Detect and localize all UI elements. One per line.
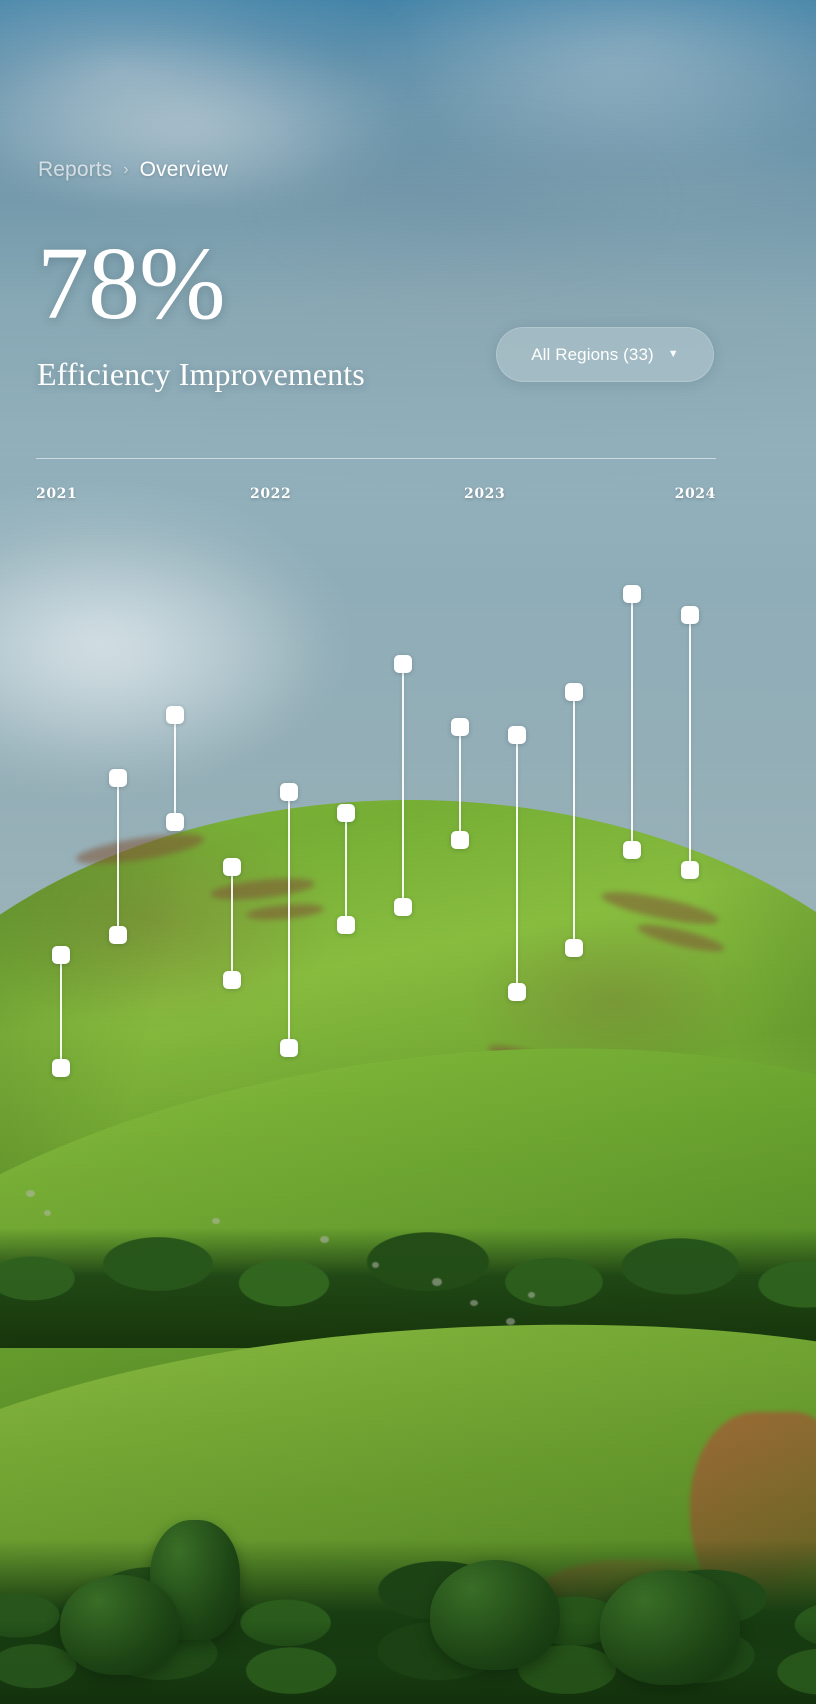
range-bar-stem bbox=[573, 692, 575, 948]
range-bar-bottom-marker[interactable] bbox=[451, 831, 469, 849]
range-bar-top-marker[interactable] bbox=[623, 585, 641, 603]
range-bar-top-marker[interactable] bbox=[394, 655, 412, 673]
range-bar-stem bbox=[689, 615, 691, 870]
range-bar-stem bbox=[288, 792, 290, 1048]
range-bar-stem bbox=[345, 813, 347, 925]
range-bar-bottom-marker[interactable] bbox=[681, 861, 699, 879]
range-bar[interactable] bbox=[402, 664, 404, 907]
range-bar[interactable] bbox=[573, 692, 575, 948]
range-bar-stem bbox=[459, 727, 461, 840]
range-bar[interactable] bbox=[516, 735, 518, 992]
range-bar-top-marker[interactable] bbox=[52, 946, 70, 964]
range-bar-stem bbox=[174, 715, 176, 822]
range-bar[interactable] bbox=[174, 715, 176, 822]
range-bar[interactable] bbox=[689, 615, 691, 870]
range-bar[interactable] bbox=[117, 778, 119, 935]
range-bar[interactable] bbox=[459, 727, 461, 840]
range-bar-bottom-marker[interactable] bbox=[223, 971, 241, 989]
range-bar-bottom-marker[interactable] bbox=[337, 916, 355, 934]
range-bar-stem bbox=[516, 735, 518, 992]
range-bar-top-marker[interactable] bbox=[565, 683, 583, 701]
ui-overlay: Reports › Overview 78% Efficiency Improv… bbox=[0, 0, 816, 1704]
range-bar-bottom-marker[interactable] bbox=[394, 898, 412, 916]
range-bar-top-marker[interactable] bbox=[166, 706, 184, 724]
range-bar-top-marker[interactable] bbox=[681, 606, 699, 624]
range-bar-top-marker[interactable] bbox=[109, 769, 127, 787]
range-bar-stem bbox=[60, 955, 62, 1068]
range-bar[interactable] bbox=[60, 955, 62, 1068]
range-bar-bottom-marker[interactable] bbox=[52, 1059, 70, 1077]
screen: Reports › Overview 78% Efficiency Improv… bbox=[0, 0, 816, 1704]
range-bar-top-marker[interactable] bbox=[451, 718, 469, 736]
range-bar-bottom-marker[interactable] bbox=[166, 813, 184, 831]
range-bar[interactable] bbox=[345, 813, 347, 925]
range-bar[interactable] bbox=[231, 867, 233, 980]
range-bar[interactable] bbox=[631, 594, 633, 850]
range-bar-stem bbox=[631, 594, 633, 850]
range-bar-chart bbox=[0, 0, 816, 1704]
range-bar-top-marker[interactable] bbox=[337, 804, 355, 822]
range-bar-bottom-marker[interactable] bbox=[565, 939, 583, 957]
range-bar-top-marker[interactable] bbox=[280, 783, 298, 801]
range-bar-bottom-marker[interactable] bbox=[109, 926, 127, 944]
range-bar-top-marker[interactable] bbox=[508, 726, 526, 744]
range-bar-stem bbox=[231, 867, 233, 980]
range-bar-bottom-marker[interactable] bbox=[280, 1039, 298, 1057]
range-bar-top-marker[interactable] bbox=[223, 858, 241, 876]
range-bar-stem bbox=[117, 778, 119, 935]
range-bar[interactable] bbox=[288, 792, 290, 1048]
range-bar-stem bbox=[402, 664, 404, 907]
range-bar-bottom-marker[interactable] bbox=[623, 841, 641, 859]
range-bar-bottom-marker[interactable] bbox=[508, 983, 526, 1001]
